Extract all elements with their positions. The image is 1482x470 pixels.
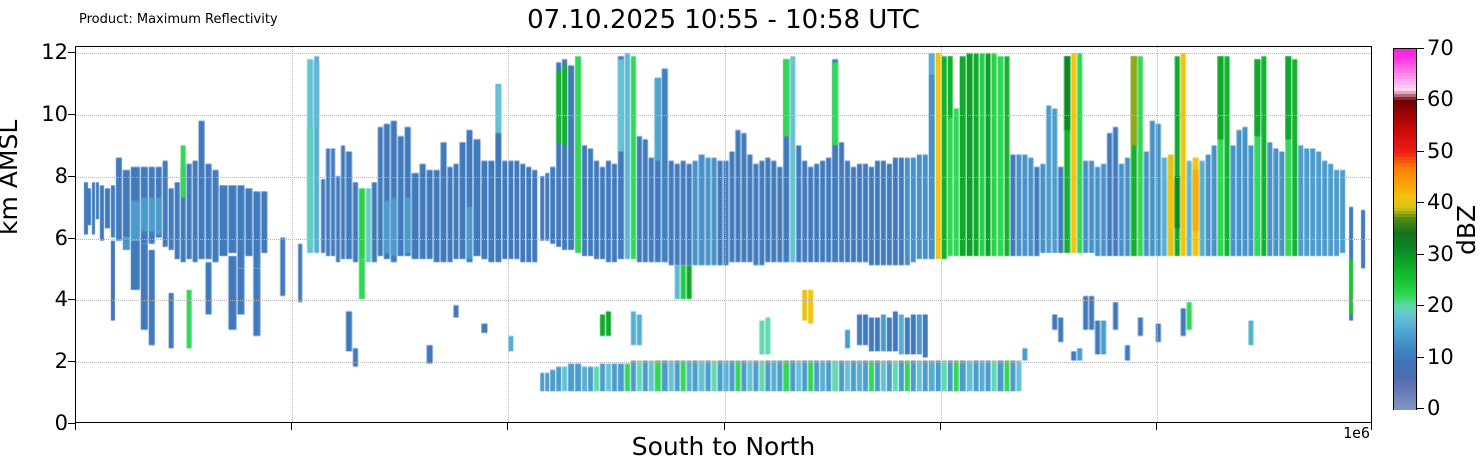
colorbar-tick-label: 60 bbox=[1427, 87, 1454, 111]
colorbar-title: dBZ bbox=[1452, 205, 1481, 255]
colorbar-segment bbox=[1394, 406, 1416, 410]
gridline-horizontal bbox=[76, 239, 1371, 240]
colorbar-tick-label: 70 bbox=[1427, 36, 1454, 60]
y-tick-label: 12 bbox=[41, 40, 68, 64]
gridline-horizontal bbox=[76, 300, 1371, 301]
gridline-vertical bbox=[292, 47, 293, 422]
x-tick-mark bbox=[940, 423, 941, 430]
y-tick-labels: 024681012 bbox=[14, 46, 68, 423]
colorbar-tick-mark bbox=[1417, 408, 1424, 409]
y-tick-mark bbox=[68, 52, 75, 53]
y-tick-mark bbox=[68, 361, 75, 362]
x-tick-mark bbox=[1156, 423, 1157, 430]
x-tick-mark bbox=[75, 423, 76, 430]
colorbar-tick-label: 50 bbox=[1427, 139, 1454, 163]
y-tick-label: 0 bbox=[55, 411, 68, 435]
colorbar bbox=[1393, 48, 1417, 410]
y-tick-label: 4 bbox=[55, 287, 68, 311]
colorbar-tick-mark bbox=[1417, 254, 1424, 255]
y-tick-label: 8 bbox=[55, 164, 68, 188]
colorbar-tick-label: 40 bbox=[1427, 190, 1454, 214]
y-tick-mark bbox=[68, 176, 75, 177]
gridline-vertical bbox=[508, 47, 509, 422]
gridline-horizontal bbox=[76, 362, 1371, 363]
y-tick-label: 2 bbox=[55, 349, 68, 373]
x-tick-marks bbox=[75, 423, 1372, 431]
y-tick-mark bbox=[68, 299, 75, 300]
colorbar-tick-mark bbox=[1417, 305, 1424, 306]
colorbar-tick-mark bbox=[1417, 357, 1424, 358]
x-axis-title: South to North bbox=[75, 432, 1372, 461]
gridline-vertical bbox=[725, 47, 726, 422]
page-title: 07.10.2025 10:55 - 10:58 UTC bbox=[75, 5, 1372, 35]
x-axis-offset-label: 1e6 bbox=[1343, 424, 1370, 442]
y-tick-label: 10 bbox=[41, 102, 68, 126]
gridline-horizontal bbox=[76, 115, 1371, 116]
colorbar-tick-mark bbox=[1417, 151, 1424, 152]
reflectivity-heatmap bbox=[76, 47, 1371, 422]
x-tick-mark bbox=[291, 423, 292, 430]
colorbar-tick-mark bbox=[1417, 99, 1424, 100]
gridline-horizontal bbox=[76, 177, 1371, 178]
y-tick-mark bbox=[68, 423, 75, 424]
x-tick-mark bbox=[724, 423, 725, 430]
y-tick-mark bbox=[68, 114, 75, 115]
colorbar-tick-label: 0 bbox=[1427, 396, 1440, 420]
colorbar-tick-label: 30 bbox=[1427, 242, 1454, 266]
x-tick-mark bbox=[1371, 423, 1372, 430]
y-tick-label: 6 bbox=[55, 226, 68, 250]
radar-figure: Product: Maximum Reflectivity 07.10.2025… bbox=[0, 0, 1482, 470]
gridline-vertical bbox=[941, 47, 942, 422]
colorbar-tick-mark bbox=[1417, 48, 1424, 49]
colorbar-gradient bbox=[1394, 49, 1416, 409]
plot-area bbox=[75, 46, 1372, 423]
x-tick-mark bbox=[507, 423, 508, 430]
colorbar-tick-label: 20 bbox=[1427, 293, 1454, 317]
gridline-vertical bbox=[1157, 47, 1158, 422]
gridline-horizontal bbox=[76, 53, 1371, 54]
y-tick-mark bbox=[68, 238, 75, 239]
colorbar-tick-label: 10 bbox=[1427, 345, 1454, 369]
colorbar-tick-mark bbox=[1417, 202, 1424, 203]
